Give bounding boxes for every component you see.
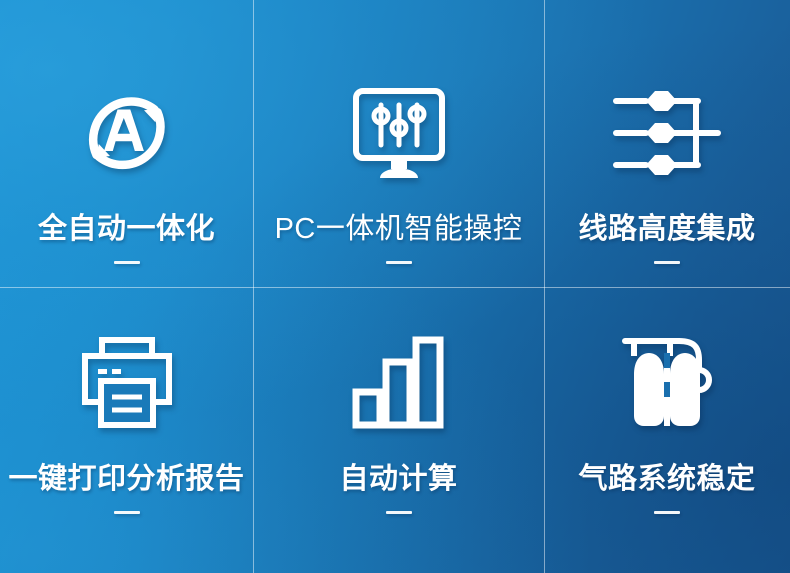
feature-label: PC一体机智能操控 — [275, 205, 523, 247]
circuit-integration-icon — [612, 73, 722, 193]
feature-cell-auto-integration[interactable]: 全自动一体化 — [0, 0, 253, 287]
feature-cell-auto-calculate[interactable]: 自动计算 — [253, 287, 544, 573]
feature-label: 自动计算 — [339, 455, 457, 497]
feature-label: 线路高度集成 — [578, 205, 755, 247]
feature-cell-gas-system[interactable]: 气路系统稳定 — [544, 287, 790, 573]
label-underline-dash — [654, 261, 680, 264]
feature-label: 全自动一体化 — [38, 205, 215, 247]
feature-grid-banner: 全自动一体化 — [0, 0, 790, 573]
label-underline-dash — [386, 261, 412, 264]
feature-cell-print-report[interactable]: 一键打印分析报告 — [0, 287, 253, 573]
label-underline-dash — [114, 261, 140, 264]
monitor-sliders-icon — [347, 73, 451, 193]
feature-cell-circuit-integration[interactable]: 线路高度集成 — [544, 0, 790, 287]
auto-circle-a-icon — [76, 73, 178, 193]
label-underline-dash — [654, 511, 680, 514]
feature-label: 一键打印分析报告 — [8, 455, 244, 497]
gas-cylinder-icon — [615, 323, 719, 443]
feature-grid: 全自动一体化 — [0, 0, 790, 573]
printer-icon — [78, 323, 176, 443]
label-underline-dash — [386, 511, 412, 514]
bar-chart-icon — [352, 323, 446, 443]
label-underline-dash — [114, 511, 140, 514]
feature-label: 气路系统稳定 — [578, 455, 755, 497]
feature-cell-pc-control[interactable]: PC一体机智能操控 — [253, 0, 544, 287]
